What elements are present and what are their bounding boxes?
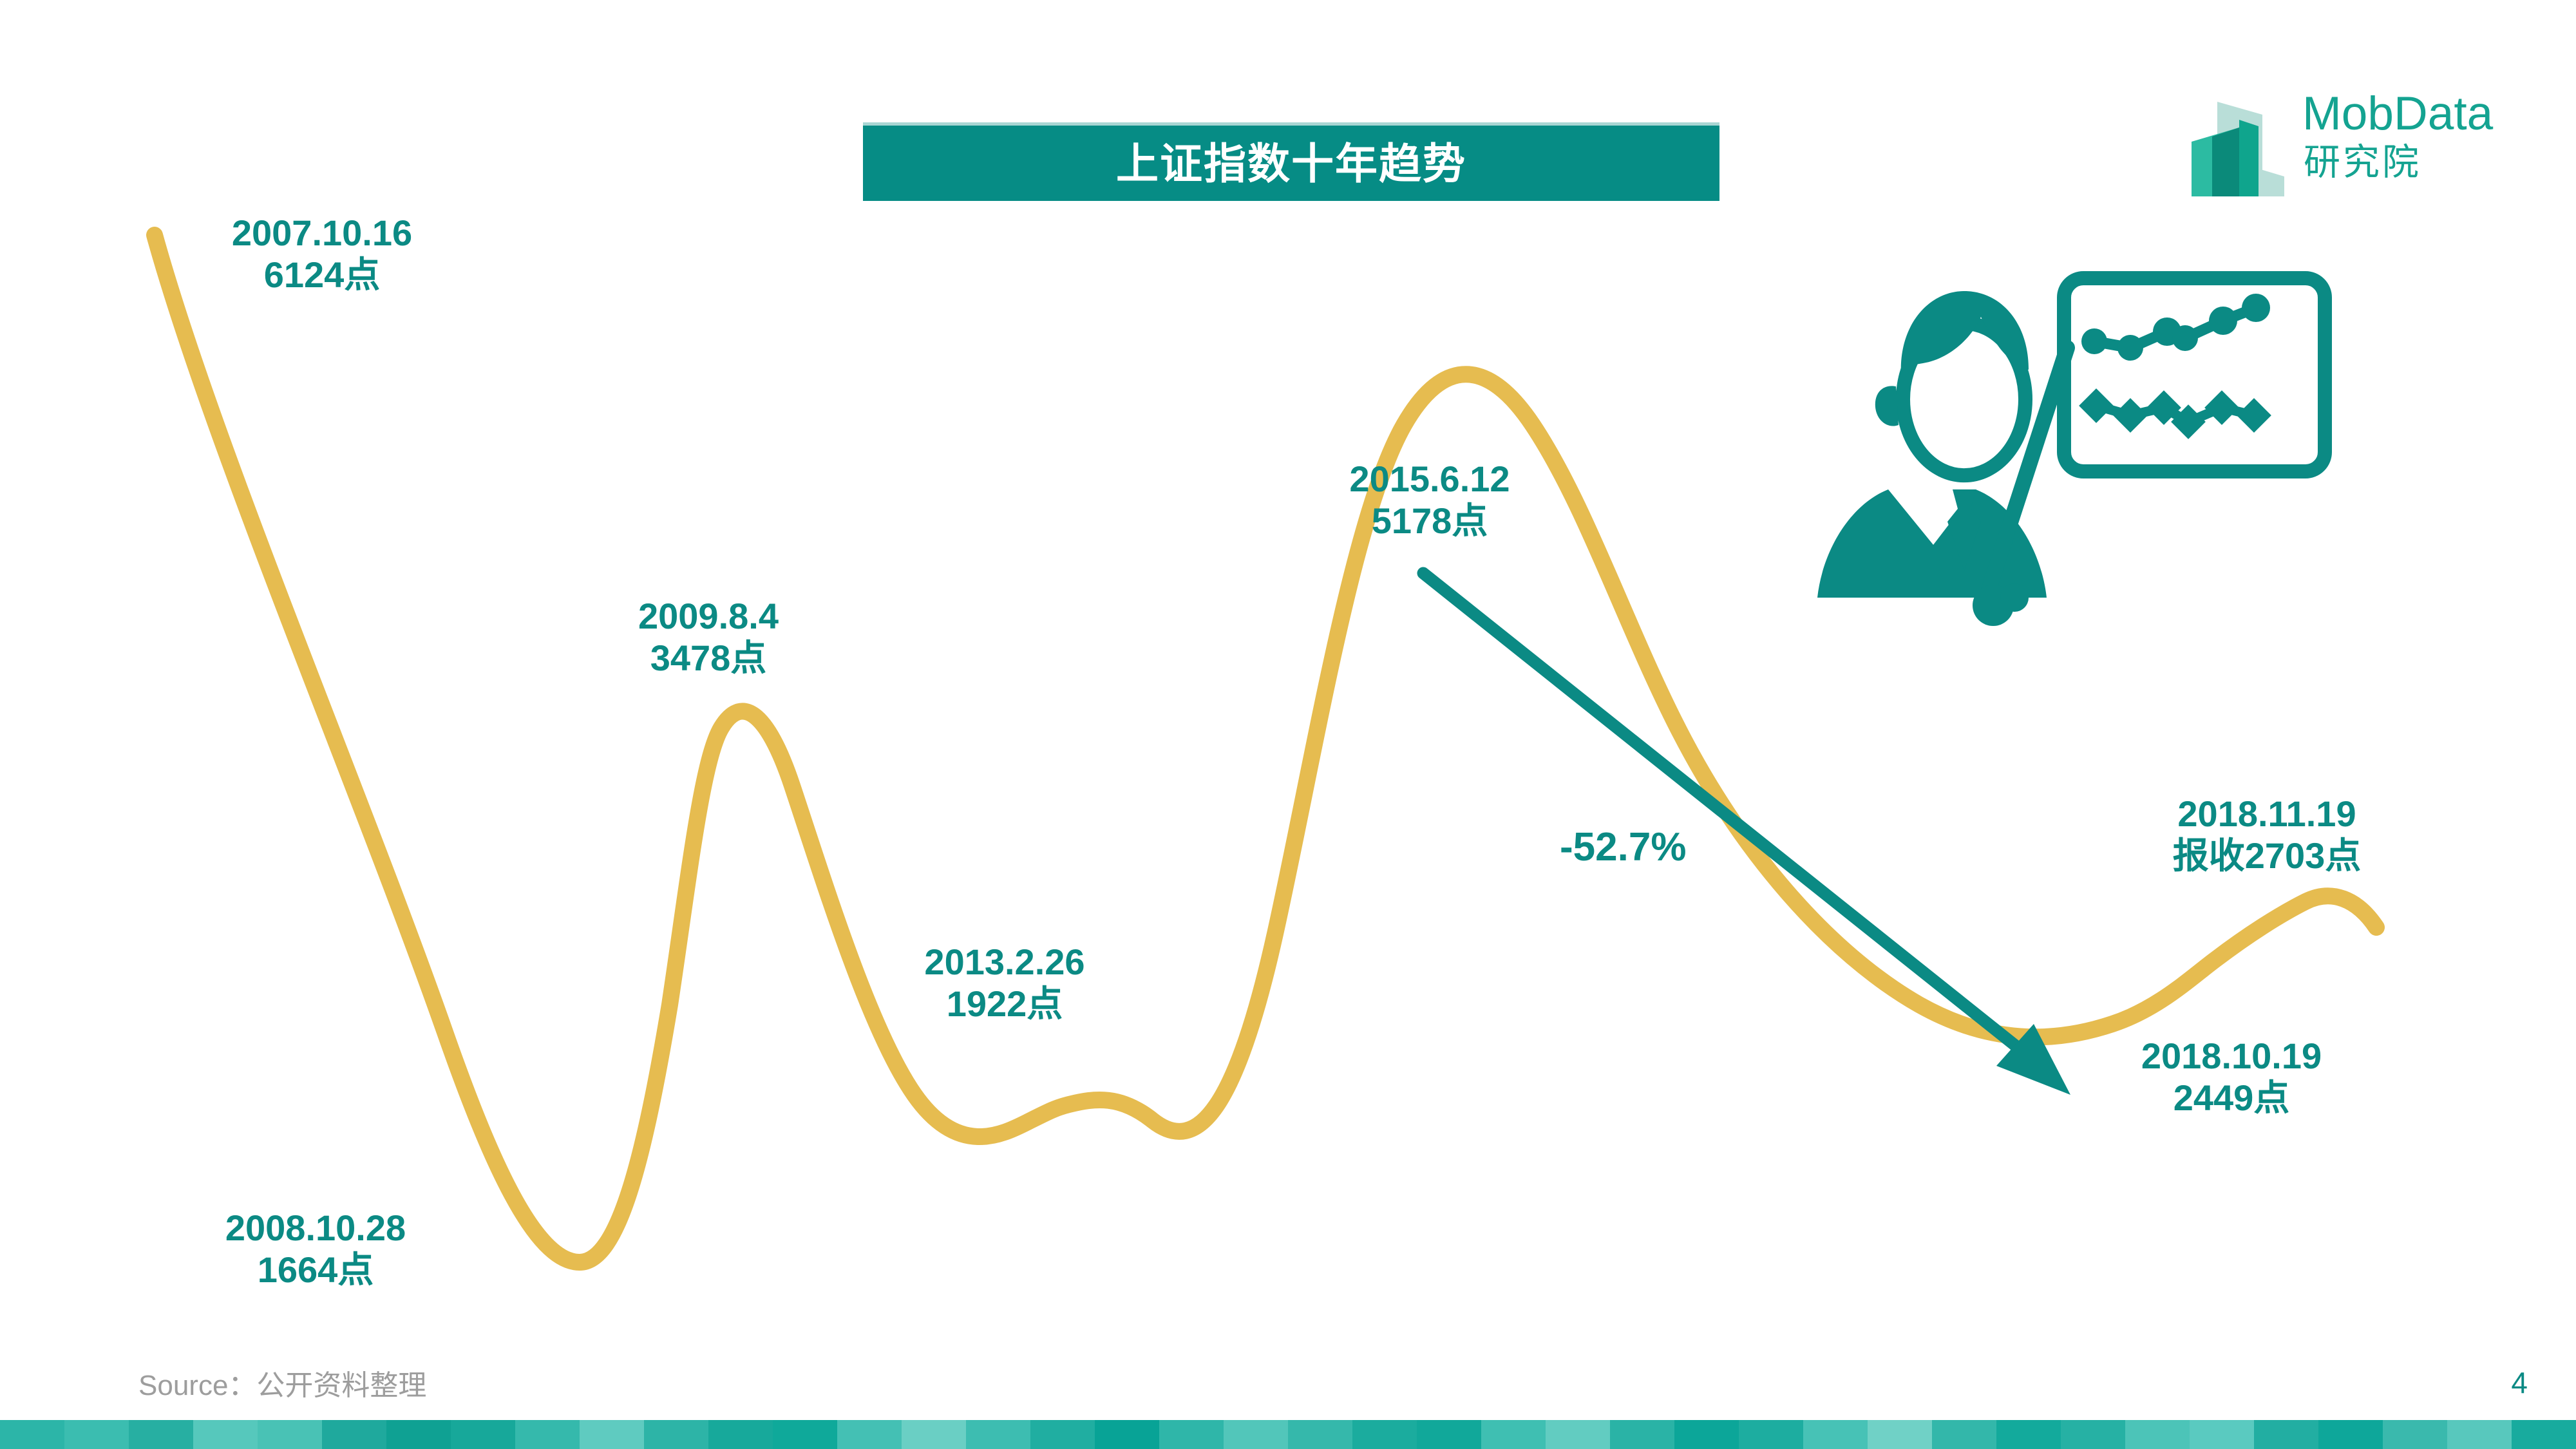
annotation-2018-11-19: 2018.11.19 报收2703点 bbox=[2119, 793, 2415, 877]
decline-percentage-label: -52.7% bbox=[1560, 824, 1686, 870]
presenter-with-chart-board-icon bbox=[1817, 278, 2325, 626]
annotation-2009-peak: 2009.8.4 3478点 bbox=[586, 596, 831, 679]
source-note: Source：公开资料整理 bbox=[138, 1362, 426, 1403]
annotation-2013-trough: 2013.2.26 1922点 bbox=[882, 942, 1127, 1025]
annotation-value: 2449点 bbox=[2087, 1077, 2376, 1119]
annotation-value: 5178点 bbox=[1307, 500, 1552, 542]
annotation-date: 2018.10.19 bbox=[2141, 1036, 2322, 1076]
annotation-value: 6124点 bbox=[193, 254, 451, 296]
decline-arrow-icon bbox=[1423, 573, 2070, 1095]
annotation-date: 2018.11.19 bbox=[2177, 793, 2356, 834]
annotation-value: 1664点 bbox=[184, 1249, 448, 1291]
annotation-2007-peak: 2007.10.16 6124点 bbox=[193, 213, 451, 296]
annotation-date: 2008.10.28 bbox=[225, 1207, 406, 1248]
annotation-value: 报收2703点 bbox=[2119, 835, 2415, 877]
index-trend-line bbox=[155, 235, 2376, 1262]
bottom-color-bar bbox=[0, 1420, 2576, 1449]
slide-canvas: 上证指数十年趋势 MobData 研究院 bbox=[0, 0, 2576, 1449]
annotation-value: 3478点 bbox=[586, 638, 831, 679]
annotation-2018-10-19: 2018.10.19 2449点 bbox=[2087, 1036, 2376, 1119]
annotation-date: 2015.6.12 bbox=[1349, 459, 1510, 499]
annotation-value: 1922点 bbox=[882, 983, 1127, 1025]
annotation-date: 2009.8.4 bbox=[638, 596, 779, 636]
annotation-2008-trough: 2008.10.28 1664点 bbox=[184, 1207, 448, 1291]
page-number: 4 bbox=[2511, 1365, 2528, 1400]
annotation-2015-peak: 2015.6.12 5178点 bbox=[1307, 459, 1552, 542]
annotation-date: 2013.2.26 bbox=[924, 942, 1084, 982]
annotation-date: 2007.10.16 bbox=[232, 213, 412, 253]
